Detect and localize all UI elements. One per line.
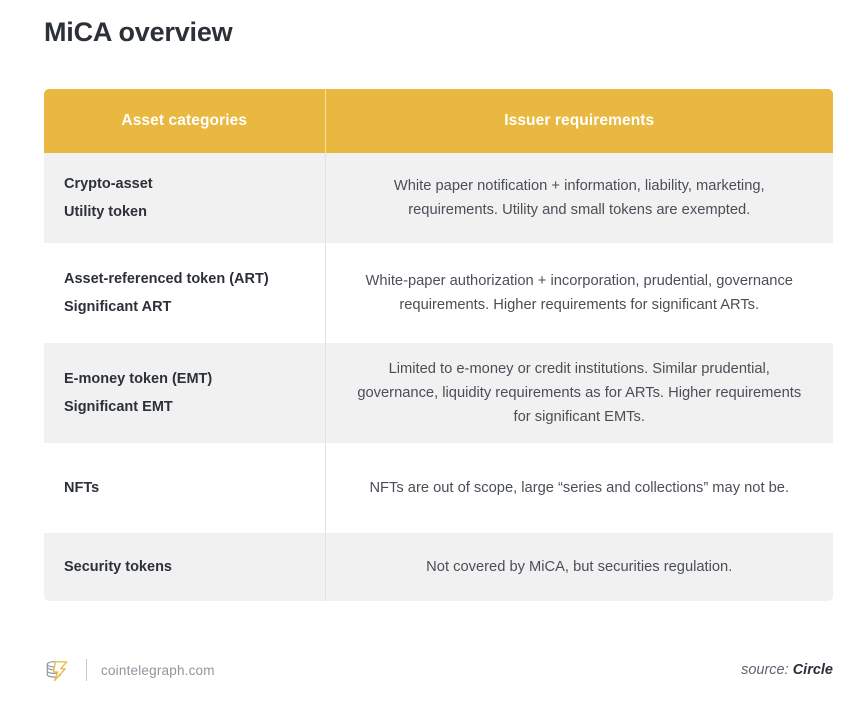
cell-asset-category: Security tokens xyxy=(44,533,325,601)
page-title: MiCA overview xyxy=(44,14,232,50)
column-header-issuer-requirements: Issuer requirements xyxy=(325,89,833,153)
cell-issuer-requirements: NFTs are out of scope, large “series and… xyxy=(325,443,833,533)
category-line-secondary: Utility token xyxy=(64,198,307,226)
source-name: Circle xyxy=(793,662,833,678)
source-label: source: xyxy=(741,662,789,678)
source-credit: source: Circle xyxy=(741,662,833,678)
category-line-secondary: Significant EMT xyxy=(64,393,307,421)
infographic-page: MiCA overview Asset categories Issuer re… xyxy=(0,0,868,710)
cell-asset-category: Crypto-asset Utility token xyxy=(44,153,325,243)
footer: cointelegraph.com source: Circle xyxy=(44,648,833,692)
cell-issuer-requirements: White paper notification + information, … xyxy=(325,153,833,243)
table-row: NFTs NFTs are out of scope, large “serie… xyxy=(44,443,833,533)
category-line-primary: Asset-referenced token (ART) xyxy=(64,265,307,293)
table-row: Security tokens Not covered by MiCA, but… xyxy=(44,533,833,601)
category-line-primary: Crypto-asset xyxy=(64,170,307,198)
category-line-primary: E-money token (EMT) xyxy=(64,365,307,393)
category-line-secondary: Significant ART xyxy=(64,293,307,321)
table-body: Crypto-asset Utility token White paper n… xyxy=(44,153,833,601)
cointelegraph-coins-bolt-icon xyxy=(44,657,70,683)
table-row: E-money token (EMT) Significant EMT Limi… xyxy=(44,343,833,443)
cell-asset-category: NFTs xyxy=(44,443,325,533)
footer-divider xyxy=(86,659,87,681)
cell-issuer-requirements: Limited to e-money or credit institution… xyxy=(325,343,833,443)
table-row: Crypto-asset Utility token White paper n… xyxy=(44,153,833,243)
table-row: Asset-referenced token (ART) Significant… xyxy=(44,243,833,343)
cell-issuer-requirements: White-paper authorization + incorporatio… xyxy=(325,243,833,343)
table-header-row: Asset categories Issuer requirements xyxy=(44,89,833,153)
column-header-asset-categories: Asset categories xyxy=(44,89,325,153)
mica-overview-table: Asset categories Issuer requirements Cry… xyxy=(44,89,833,601)
table-header: Asset categories Issuer requirements xyxy=(44,89,833,153)
cell-asset-category: E-money token (EMT) Significant EMT xyxy=(44,343,325,443)
category-line-primary: NFTs xyxy=(64,474,307,502)
cell-issuer-requirements: Not covered by MiCA, but securities regu… xyxy=(325,533,833,601)
brand-block: cointelegraph.com xyxy=(44,657,215,683)
category-line-primary: Security tokens xyxy=(64,553,307,581)
cell-asset-category: Asset-referenced token (ART) Significant… xyxy=(44,243,325,343)
brand-name: cointelegraph.com xyxy=(101,663,215,678)
